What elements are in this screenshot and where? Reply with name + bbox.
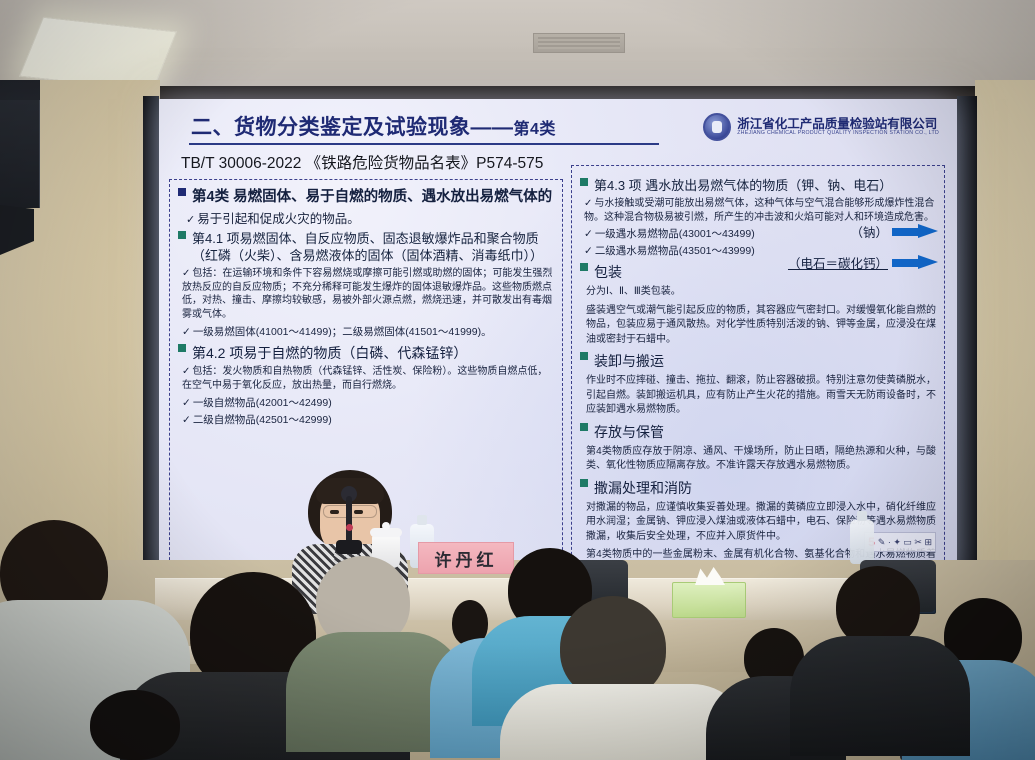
bullet-square-icon <box>580 423 588 431</box>
item-4-1-codes: 一级易燃固体(41001～41499)；二级易燃固体(41501～41999)。 <box>182 324 554 339</box>
tea-cup-knob <box>382 522 390 530</box>
bullet-square-icon <box>580 352 588 360</box>
item-4-1-heading: 第4.1 项易燃固体、自反应物质、固态退敏爆炸品和聚合物质（红磷（火柴）、含易燃… <box>192 231 554 265</box>
storage-heading-row: 存放与保管 <box>580 423 936 442</box>
handling-heading: 装卸与搬运 <box>594 352 664 371</box>
class4-heading: 第4类 易燃固体、易于自燃的物质、遇水放出易燃气体的 <box>192 188 552 208</box>
spill-heading: 撒漏处理和消防 <box>594 479 692 498</box>
slide-columns: 第4类 易燃固体、易于自燃的物质、遇水放出易燃气体的 易于引起和促成火灾的物品。… <box>169 179 947 575</box>
bullet-square-icon <box>580 479 588 487</box>
wall-speaker-icon <box>0 100 40 208</box>
arrow-row-carbide: （电石＝碳化钙） <box>778 253 938 272</box>
company-name-en: ZHEJIANG CHEMICAL PRODUCT QUALITY INSPEC… <box>737 131 939 136</box>
arrow-right-icon <box>892 224 938 239</box>
slide-title: 二、货物分类鉴定及试验现象——第4类 <box>191 111 556 141</box>
slide-right-column: 第4.3 项 遇水放出易燃气体的物质（钾、钠、电石） 与水接触或受潮可能放出易燃… <box>571 165 945 575</box>
item-4-2-code-level2: 二级自燃物品(42501～42999) <box>182 412 554 427</box>
recorder-tools-icons[interactable]: ✎ · ✦ ▭ ✂ ⊞ <box>878 537 932 548</box>
microphone-indicator-light <box>346 524 353 531</box>
microphone-base <box>336 540 362 554</box>
item-4-2-code-level1: 一级自燃物品(42001～42499) <box>182 395 554 410</box>
screen-bezel-right <box>957 96 977 582</box>
company-name-cn: 浙江省化工产品质量检验站有限公司 <box>737 118 939 131</box>
ceiling <box>0 0 1035 92</box>
standard-reference: TB/T 30006-2022 《铁路危险货物品名表》P574-575 <box>181 151 543 173</box>
presenter-name-text: 许丹红 <box>435 546 498 571</box>
handling-body: 作业时不应摔碰、撞击、拖拉、翻滚，防止容器破损。特别注意勿使黄磷脱水，引起自燃。… <box>586 374 936 418</box>
storage-body: 第4类物质应存放于阴凉、通风、干燥场所，防止日晒，隔绝热源和火种，与酸类、氧化性… <box>586 445 936 474</box>
air-vent-icon <box>533 33 625 53</box>
bullet-square-icon <box>580 178 588 186</box>
lecture-room-scene: 二、货物分类鉴定及试验现象——第4类 浙江省化工产品质量检验站有限公司 ZHEJ… <box>0 0 1035 760</box>
presentation-slide: 二、货物分类鉴定及试验现象——第4类 浙江省化工产品质量检验站有限公司 ZHEJ… <box>159 99 957 579</box>
title-underline <box>189 143 659 145</box>
item-4-1-heading-row: 第4.1 项易燃固体、自反应物质、固态退敏爆炸品和聚合物质（红磷（火柴）、含易燃… <box>178 231 554 265</box>
packaging-body-classes: 分为Ⅰ、Ⅱ、Ⅲ类包装。 <box>586 285 936 300</box>
spill-heading-row: 撒漏处理和消防 <box>580 479 936 498</box>
item-4-1-detail: 包括：在运输环境和条件下容易燃烧或摩擦可能引燃或助燃的固体；可能发生强烈放热反应… <box>182 267 554 322</box>
bullet-square-icon <box>580 263 588 271</box>
company-logo-text: 浙江省化工产品质量检验站有限公司 ZHEJIANG CHEMICAL PRODU… <box>737 118 939 137</box>
screen-bezel-left <box>143 96 159 580</box>
class4-heading-row: 第4类 易燃固体、易于自燃的物质、遇水放出易燃气体的 <box>178 188 554 208</box>
item-4-3-detail: 与水接触或受潮可能放出易燃气体，这种气体与空气混合能够形成爆炸性混合物。这种混合… <box>584 197 936 225</box>
example-arrows: （钠） （电石＝碳化钙） <box>778 222 938 284</box>
storage-heading: 存放与保管 <box>594 423 664 442</box>
bullet-square-icon <box>178 188 186 196</box>
slide-title-row: 二、货物分类鉴定及试验现象——第4类 浙江省化工产品质量检验站有限公司 ZHEJ… <box>169 107 947 149</box>
tissue-box <box>672 582 746 618</box>
bullet-square-icon <box>178 231 186 239</box>
handling-heading-row: 装卸与搬运 <box>580 352 936 371</box>
packaging-body-detail: 盛装遇空气或潮气能引起反应的物质，其容器应气密封口。对缓慢氧化能自燃的物品，包装… <box>586 304 936 348</box>
microphone-stem <box>346 496 352 544</box>
arrow-row-sodium: （钠） <box>778 222 938 241</box>
projection-screen: 二、货物分类鉴定及试验现象——第4类 浙江省化工产品质量检验站有限公司 ZHEJ… <box>159 99 957 579</box>
item-4-2-detail: 包括：发火物质和自热物质（代森锰锌、活性炭、保险粉）。这些物质自燃点低，在空气中… <box>182 365 554 393</box>
item-4-3-heading: 第4.3 项 遇水放出易燃气体的物质（钾、钠、电石） <box>594 178 892 195</box>
arrow-right-icon <box>892 255 938 270</box>
item-4-2-heading: 第4.2 项易于自燃的物质（白磷、代森锰锌） <box>192 344 467 363</box>
arrow-label-carbide: （电石＝碳化钙） <box>788 253 888 272</box>
slide-title-main: 二、货物分类鉴定及试验现象—— <box>191 116 514 139</box>
item-4-2-heading-row: 第4.2 项易于自燃的物质（白磷、代森锰锌） <box>178 344 554 363</box>
presenter-nameplate: 许丹红 <box>418 542 514 574</box>
packaging-heading: 包装 <box>594 263 622 282</box>
company-emblem-icon <box>703 113 731 141</box>
slide-title-suffix: 第4类 <box>514 121 556 138</box>
company-logo: 浙江省化工产品质量检验站有限公司 ZHEJIANG CHEMICAL PRODU… <box>703 113 939 141</box>
arrow-label-sodium: （钠） <box>850 222 888 241</box>
item-4-3-heading-row: 第4.3 项 遇水放出易燃气体的物质（钾、钠、电石） <box>580 178 936 195</box>
screen-recorder-toolbar[interactable]: 5 ✎ · ✦ ▭ ✂ ⊞ <box>864 532 936 552</box>
presenter-eye-right <box>354 510 363 514</box>
bullet-square-icon <box>178 344 186 352</box>
water-bottle <box>850 520 874 564</box>
presenter-eye-left <box>330 510 339 514</box>
class4-check-note: 易于引起和促成火灾的物品。 <box>186 211 554 228</box>
